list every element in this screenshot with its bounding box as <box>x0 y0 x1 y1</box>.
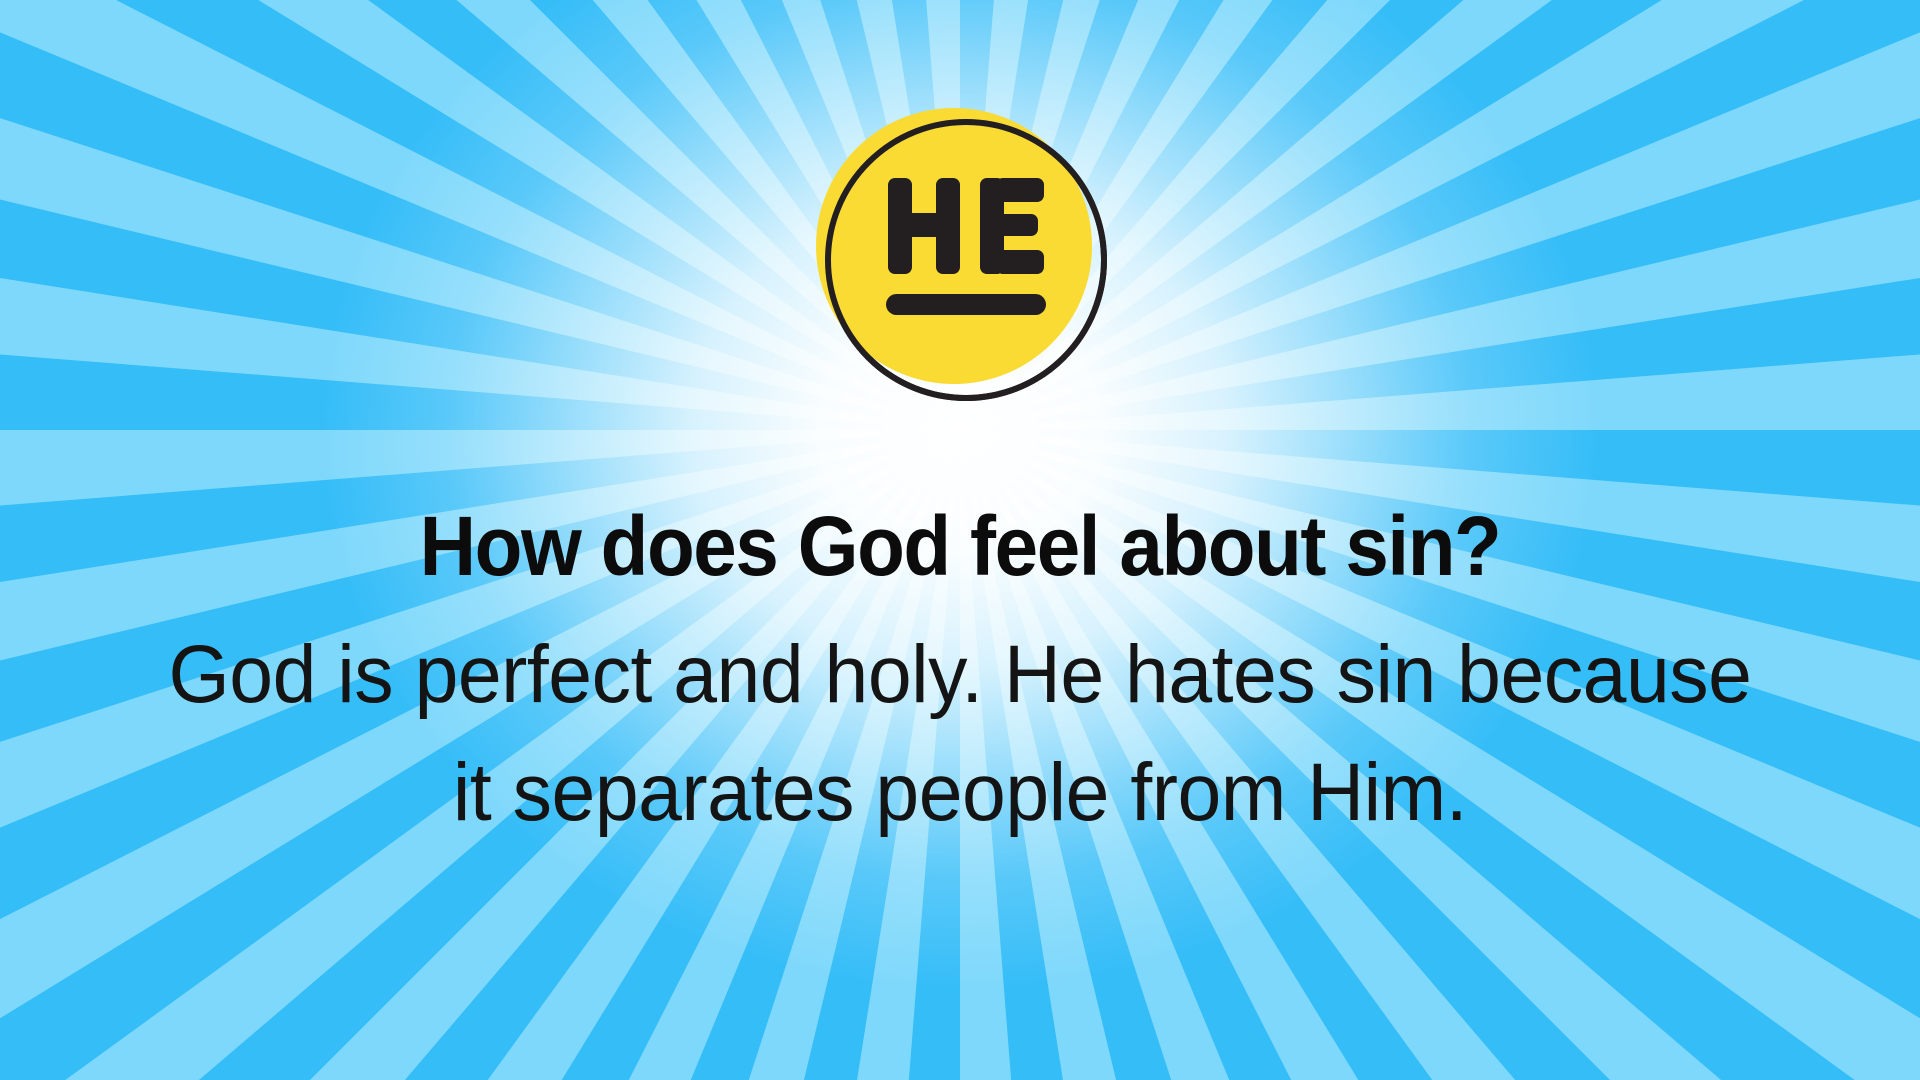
body-text: God is perfect and holy. He hates sin be… <box>96 616 1824 852</box>
logo-underline-bar <box>886 294 1046 315</box>
page-title: How does God feel about sin? <box>67 498 1853 594</box>
he-logo-mark <box>800 98 1120 410</box>
slide-canvas: How does God feel about sin? God is perf… <box>0 0 1920 1080</box>
he-logo <box>800 98 1120 410</box>
body-line-2: it separates people from Him. <box>96 734 1824 852</box>
body-line-1: God is perfect and holy. He hates sin be… <box>96 616 1824 734</box>
slide-content: How does God feel about sin? God is perf… <box>0 0 1920 1080</box>
